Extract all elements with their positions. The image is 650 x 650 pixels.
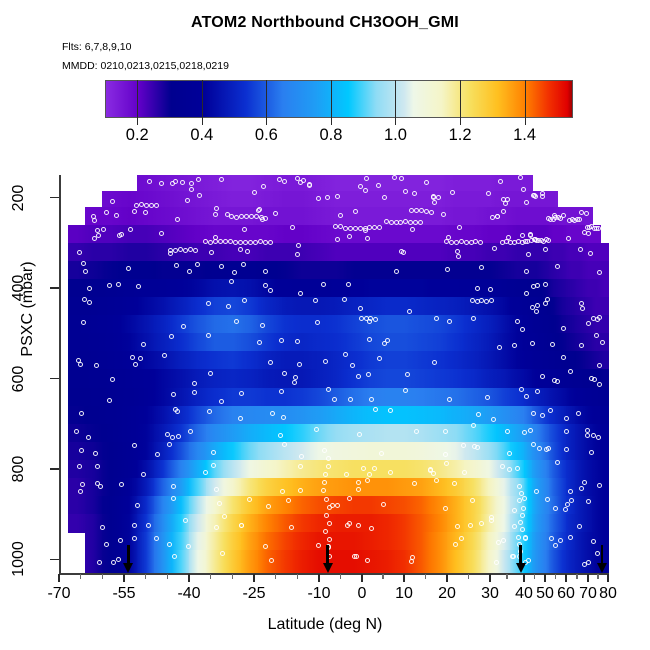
heatmap-cell xyxy=(362,207,380,226)
x-axis-tick xyxy=(607,574,609,582)
heatmap-cell xyxy=(413,315,431,334)
heatmap-cell xyxy=(379,532,397,551)
heatmap-cell xyxy=(276,315,294,334)
heatmap-cell xyxy=(345,532,363,551)
heatmap-cell xyxy=(137,175,155,192)
heatmap-cell xyxy=(510,207,524,226)
heatmap-cell xyxy=(362,261,380,280)
heatmap-cell xyxy=(510,243,524,262)
heatmap-cell xyxy=(85,243,103,262)
heatmap-cell xyxy=(224,478,242,497)
observation-marker xyxy=(132,209,137,214)
observation-marker xyxy=(540,191,545,196)
heatmap-cell xyxy=(189,550,207,573)
heatmap-cell xyxy=(481,496,497,515)
heatmap-cell xyxy=(224,442,242,461)
heatmap-cell xyxy=(430,532,448,551)
heatmap-cell xyxy=(206,191,224,208)
heatmap-cell xyxy=(276,550,294,573)
observation-marker xyxy=(372,466,377,471)
heatmap-cell xyxy=(430,297,448,316)
observation-marker xyxy=(494,560,499,565)
heatmap-cell xyxy=(379,369,397,388)
heatmap-cell xyxy=(396,460,414,479)
observation-marker xyxy=(196,177,201,182)
x-axis-minor-tick xyxy=(468,574,470,579)
heatmap-cell xyxy=(600,279,609,298)
page-title: ATOM2 Northbound CH3OOH_GMI xyxy=(0,14,650,32)
heatmap-cell xyxy=(154,279,172,298)
x-axis-minor-tick xyxy=(382,574,384,579)
heatmap-cell xyxy=(447,333,465,352)
observation-marker xyxy=(543,301,548,306)
observation-marker xyxy=(326,464,331,469)
heatmap-cell xyxy=(464,333,482,352)
colorbar-tick xyxy=(202,118,203,125)
observation-marker xyxy=(470,298,475,303)
observation-marker xyxy=(296,243,301,248)
heatmap-cell xyxy=(310,333,328,352)
observation-marker xyxy=(81,261,86,266)
heatmap-cell xyxy=(241,460,259,479)
heatmap-cell xyxy=(497,261,511,280)
heatmap-cell xyxy=(102,261,120,280)
heatmap-cell xyxy=(137,532,155,551)
heatmap-cell xyxy=(464,532,482,551)
heatmap-cell xyxy=(206,532,224,551)
heatmap-cell xyxy=(396,406,414,425)
heatmap-cell xyxy=(102,424,120,443)
heatmap-cell xyxy=(447,351,465,370)
x-axis-minor-tick xyxy=(80,574,82,579)
heatmap-cell xyxy=(293,191,311,208)
observation-marker xyxy=(550,342,555,347)
heatmap-cell xyxy=(447,279,465,298)
colorbar-tick-label: 1.2 xyxy=(449,126,472,145)
x-axis-tick-label: 20 xyxy=(438,585,456,603)
heatmap-cell xyxy=(137,297,155,316)
heatmap-cell xyxy=(510,191,524,208)
heatmap-cell xyxy=(447,460,465,479)
observation-marker xyxy=(453,542,458,547)
heatmap-cell xyxy=(189,532,207,551)
observation-marker xyxy=(403,388,408,393)
x-axis-tick xyxy=(587,574,589,582)
heatmap-field xyxy=(59,175,609,573)
observation-marker xyxy=(93,451,98,456)
heatmap-cell xyxy=(120,460,138,479)
heatmap-cell xyxy=(345,442,363,461)
heatmap-cell xyxy=(172,369,190,388)
observation-marker xyxy=(535,283,540,288)
heatmap-cell xyxy=(510,369,524,388)
observation-marker xyxy=(82,297,87,302)
heatmap-cell xyxy=(276,191,294,208)
observation-marker xyxy=(566,236,571,241)
heatmap-cell xyxy=(447,496,465,515)
observation-marker xyxy=(110,377,115,382)
heatmap-cell xyxy=(430,406,448,425)
heatmap-cell xyxy=(600,243,609,262)
heatmap-cell xyxy=(464,207,482,226)
heatmap-cell xyxy=(102,297,120,316)
observation-marker xyxy=(450,190,455,195)
x-axis-minor-tick xyxy=(506,574,508,579)
x-axis-tick-label: 50 xyxy=(536,585,554,603)
observation-marker xyxy=(365,236,370,241)
observation-marker xyxy=(154,203,159,208)
x-axis-title: Latitude (deg N) xyxy=(0,616,650,634)
heatmap-cell xyxy=(241,424,259,443)
observation-marker xyxy=(558,538,563,543)
y-axis-tick-label: 200 xyxy=(0,175,43,221)
heatmap-cell xyxy=(102,351,120,370)
heatmap-cell xyxy=(481,369,497,388)
observation-marker xyxy=(518,175,523,180)
observation-marker xyxy=(521,506,526,511)
observation-marker xyxy=(324,497,329,502)
observation-marker xyxy=(282,179,287,184)
x-axis-minor-tick xyxy=(145,574,147,579)
heatmap-cell xyxy=(362,442,380,461)
heatmap-cell xyxy=(224,496,242,515)
heatmap-cell xyxy=(362,532,380,551)
observation-marker xyxy=(518,520,523,525)
observation-marker xyxy=(367,337,372,342)
heatmap-cell xyxy=(85,496,103,515)
heatmap-cell xyxy=(510,351,524,370)
heatmap-cell xyxy=(154,406,172,425)
observation-marker xyxy=(278,433,283,438)
heatmap-cell xyxy=(310,369,328,388)
heatmap-cell xyxy=(481,225,497,244)
heatmap-cell xyxy=(258,351,276,370)
observation-marker xyxy=(245,249,250,254)
observation-marker xyxy=(412,481,417,486)
heatmap-cell xyxy=(258,369,276,388)
observation-marker xyxy=(459,536,464,541)
heatmap-cell xyxy=(379,478,397,497)
heatmap-cell xyxy=(206,496,224,515)
heatmap-cell xyxy=(137,478,155,497)
heatmap-cell xyxy=(362,191,380,208)
colorbar-separator xyxy=(266,80,267,118)
heatmap-cell xyxy=(447,550,465,573)
heatmap-cell xyxy=(241,315,259,334)
heatmap-cell xyxy=(362,333,380,352)
heatmap-cell xyxy=(413,388,431,407)
heatmap-cell xyxy=(430,243,448,262)
observation-marker xyxy=(597,270,602,275)
observation-marker xyxy=(367,472,372,477)
heatmap-cell xyxy=(68,279,86,298)
observation-marker xyxy=(486,191,491,196)
observation-marker xyxy=(238,247,243,252)
heatmap-cell xyxy=(510,261,524,280)
observation-marker xyxy=(586,560,591,565)
heatmap-cell xyxy=(310,279,328,298)
observation-marker xyxy=(532,193,537,198)
colorbar-tick-label: 0.6 xyxy=(255,126,278,145)
heatmap-cell xyxy=(120,315,138,334)
heatmap-cell xyxy=(600,514,609,533)
observation-marker xyxy=(138,356,143,361)
heatmap-cell xyxy=(241,369,259,388)
x-axis-minor-tick xyxy=(340,574,342,579)
x-axis-tick xyxy=(318,574,320,582)
observation-marker xyxy=(443,429,448,434)
heatmap-cell xyxy=(430,369,448,388)
observation-marker xyxy=(344,472,349,477)
observation-marker xyxy=(183,518,188,523)
x-axis-minor-tick xyxy=(102,574,104,579)
heatmap-cell xyxy=(258,388,276,407)
observation-marker xyxy=(462,470,467,475)
heatmap-cell xyxy=(276,279,294,298)
heatmap-cell xyxy=(430,315,448,334)
x-axis-tick xyxy=(565,574,567,582)
heatmap-cell xyxy=(362,279,380,298)
observation-marker xyxy=(586,321,591,326)
observation-marker xyxy=(564,447,569,452)
heatmap-cell xyxy=(137,333,155,352)
x-axis-tick-label: -70 xyxy=(47,585,70,603)
observation-marker xyxy=(501,197,506,202)
heatmap-cell xyxy=(430,388,448,407)
heatmap-cell xyxy=(379,315,397,334)
heatmap-cell xyxy=(413,261,431,280)
heatmap-cell xyxy=(413,297,431,316)
x-axis-tick xyxy=(544,574,546,582)
heatmap-cell xyxy=(241,442,259,461)
heatmap-cell xyxy=(241,388,259,407)
observation-marker xyxy=(418,220,423,225)
observation-marker xyxy=(549,536,554,541)
x-axis-tick xyxy=(123,574,125,582)
observation-marker xyxy=(449,240,454,245)
observation-marker xyxy=(540,413,545,418)
heatmap-cell xyxy=(600,406,609,425)
heatmap-cell xyxy=(413,225,431,244)
heatmap-cell xyxy=(85,333,103,352)
heatmap-cell xyxy=(396,442,414,461)
heatmap-cell xyxy=(497,297,511,316)
heatmap-cell xyxy=(189,243,207,262)
heatmap-cell xyxy=(464,243,482,262)
observation-marker xyxy=(77,250,82,255)
heatmap-cell xyxy=(497,514,511,533)
observation-marker xyxy=(175,409,180,414)
heatmap-cell xyxy=(497,369,511,388)
heatmap-cell xyxy=(497,388,511,407)
heatmap-cell xyxy=(481,406,497,425)
heatmap-cell xyxy=(172,207,190,226)
heatmap-cell xyxy=(137,261,155,280)
colorbar-separator xyxy=(202,80,203,118)
heatmap-cell xyxy=(497,243,511,262)
heatmap-cell xyxy=(206,460,224,479)
x-axis-minor-tick xyxy=(597,574,599,579)
heatmap-cell xyxy=(497,315,511,334)
heatmap-cell xyxy=(85,315,103,334)
x-axis-minor-tick xyxy=(167,574,169,579)
heatmap-cell xyxy=(293,388,311,407)
colorbar: 0.20.40.60.81.01.21.4 xyxy=(105,80,573,118)
observation-marker xyxy=(436,195,441,200)
heatmap-cell xyxy=(189,207,207,226)
heatmap-cell xyxy=(68,333,86,352)
colorbar-tick-label: 0.2 xyxy=(126,126,149,145)
x-axis-tick xyxy=(188,574,190,582)
observation-marker xyxy=(219,177,224,182)
heatmap-cell xyxy=(137,369,155,388)
heatmap-cell xyxy=(189,442,207,461)
heatmap-cell xyxy=(328,369,346,388)
heatmap-cell xyxy=(328,207,346,226)
observation-marker xyxy=(405,372,410,377)
observation-marker xyxy=(369,526,374,531)
flight-marker-arrow xyxy=(601,545,604,564)
heatmap-cell xyxy=(276,243,294,262)
observation-marker xyxy=(561,326,566,331)
heatmap-cell xyxy=(68,496,86,515)
observation-marker xyxy=(377,356,382,361)
heatmap-cell xyxy=(464,351,482,370)
heatmap-cell xyxy=(120,243,138,262)
colorbar-separator xyxy=(395,80,396,118)
observation-marker xyxy=(511,554,516,559)
heatmap-cell xyxy=(224,243,242,262)
heatmap-cell xyxy=(379,460,397,479)
heatmap-cell xyxy=(396,315,414,334)
x-axis-minor-tick xyxy=(534,574,536,579)
colorbar-tick-label: 0.4 xyxy=(190,126,213,145)
heatmap-cell xyxy=(206,315,224,334)
heatmap-cell xyxy=(224,175,242,192)
flight-marker-arrow xyxy=(127,545,130,564)
observation-marker xyxy=(171,496,176,501)
heatmap-cell xyxy=(413,243,431,262)
heatmap-cell xyxy=(276,514,294,533)
observation-marker xyxy=(585,433,590,438)
y-axis-tick xyxy=(50,559,59,561)
heatmap-cell xyxy=(276,207,294,226)
heatmap-cell xyxy=(497,279,511,298)
heatmap-cell xyxy=(276,297,294,316)
observation-marker xyxy=(535,389,540,394)
heatmap-cell xyxy=(68,369,86,388)
heatmap-cell xyxy=(430,514,448,533)
x-axis-tick-label: -10 xyxy=(307,585,330,603)
heatmap-cell xyxy=(310,225,328,244)
heatmap-cell xyxy=(293,550,311,573)
y-axis-tick-label: 1000 xyxy=(0,536,43,582)
observation-marker xyxy=(526,558,531,563)
heatmap-cell xyxy=(68,225,86,244)
heatmap-cell xyxy=(328,406,346,425)
heatmap-cell xyxy=(154,388,172,407)
observation-marker xyxy=(576,411,581,416)
heatmap-cell xyxy=(258,175,276,192)
heatmap-cell xyxy=(345,191,363,208)
heatmap-cell xyxy=(379,424,397,443)
heatmap-cell xyxy=(241,351,259,370)
mmdd-label: MMDD: 0210,0213,0215,0218,0219 xyxy=(62,60,229,72)
observation-marker xyxy=(286,498,291,503)
heatmap-cell xyxy=(120,297,138,316)
observation-marker xyxy=(579,210,584,215)
heatmap-cell xyxy=(310,207,328,226)
heatmap-cell xyxy=(206,424,224,443)
heatmap-cell xyxy=(241,243,259,262)
heatmap-cell xyxy=(241,550,259,573)
observation-marker xyxy=(195,262,200,267)
heatmap-cell xyxy=(396,532,414,551)
heatmap-cell xyxy=(241,279,259,298)
observation-marker xyxy=(143,210,148,215)
colorbar-tick xyxy=(266,118,267,125)
observation-marker xyxy=(332,397,337,402)
heatmap-cell xyxy=(224,460,242,479)
x-axis-tick xyxy=(361,574,363,582)
x-axis-tick-label: 0 xyxy=(358,585,367,603)
observation-marker xyxy=(569,498,574,503)
y-axis-tick-label: 600 xyxy=(0,356,43,402)
heatmap-cell xyxy=(396,496,414,515)
x-axis-tick xyxy=(253,574,255,582)
heatmap-cell xyxy=(413,351,431,370)
heatmap-cell xyxy=(224,369,242,388)
observation-marker xyxy=(530,305,535,310)
heatmap-cell xyxy=(293,514,311,533)
observation-marker xyxy=(86,435,91,440)
observation-marker xyxy=(252,190,257,195)
observation-marker xyxy=(188,429,193,434)
heatmap-cell xyxy=(258,532,276,551)
observation-marker xyxy=(141,472,146,477)
heatmap-cell xyxy=(413,442,431,461)
heatmap-cell xyxy=(328,460,346,479)
observation-marker xyxy=(597,363,602,368)
heatmap-cell xyxy=(224,532,242,551)
observation-marker xyxy=(268,240,273,245)
heatmap-cell xyxy=(172,279,190,298)
observation-marker xyxy=(520,513,525,518)
observation-marker xyxy=(169,334,174,339)
heatmap-cell xyxy=(379,297,397,316)
heatmap-cell xyxy=(189,514,207,533)
heatmap-cell xyxy=(413,550,431,573)
heatmap-cell xyxy=(430,279,448,298)
observation-marker xyxy=(407,309,412,314)
observation-marker xyxy=(553,506,558,511)
heatmap-cell xyxy=(293,315,311,334)
heatmap-cell xyxy=(276,496,294,515)
observation-marker xyxy=(585,428,590,433)
heatmap-cell xyxy=(430,442,448,461)
observation-marker xyxy=(277,177,282,182)
heatmap-cell xyxy=(379,514,397,533)
y-axis-tick-label: 800 xyxy=(0,446,43,492)
heatmap-cell xyxy=(396,333,414,352)
heatmap-cell xyxy=(362,297,380,316)
heatmap-cell xyxy=(293,424,311,443)
observation-marker xyxy=(555,460,560,465)
heatmap-cell xyxy=(206,297,224,316)
heatmap-cell xyxy=(224,191,242,208)
heatmap-cell xyxy=(447,369,465,388)
heatmap-cell xyxy=(464,478,482,497)
